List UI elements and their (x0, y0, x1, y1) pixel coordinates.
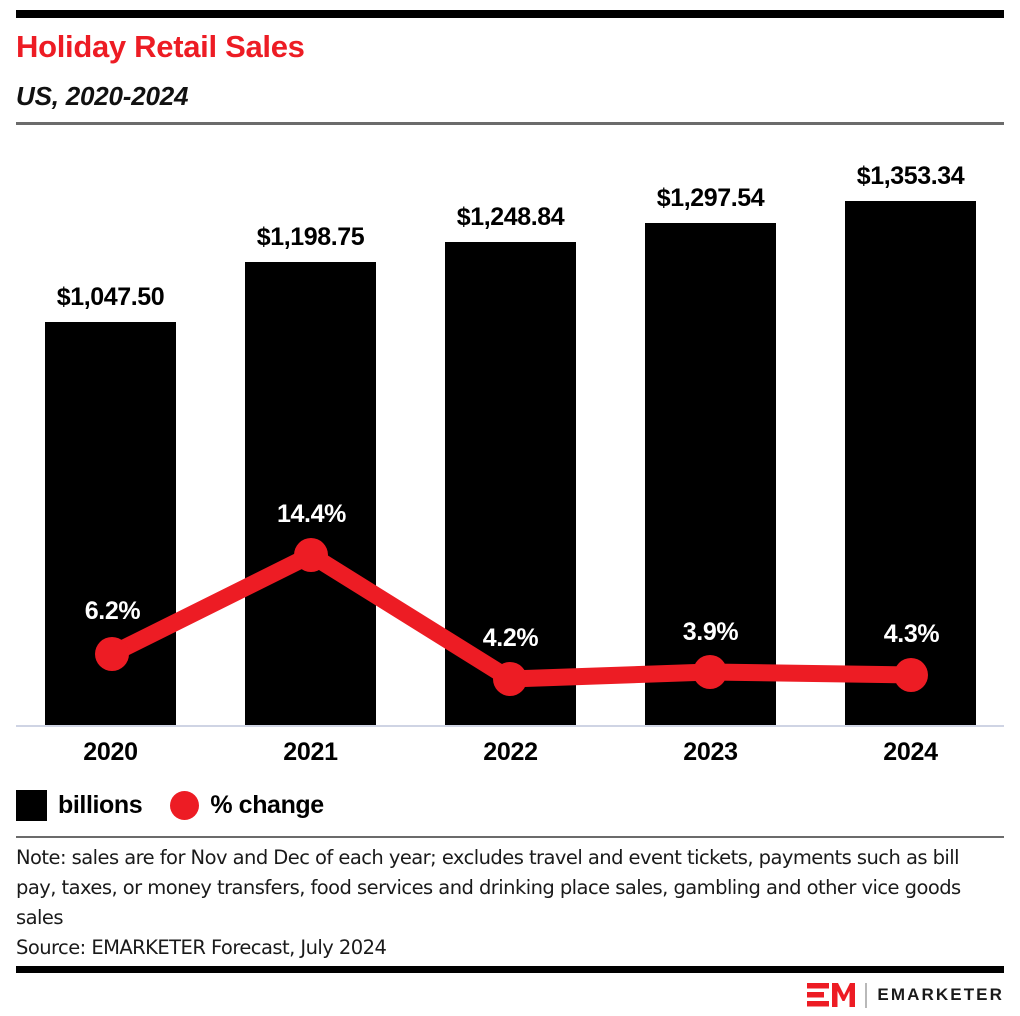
brand-wordmark: EMARKETER (877, 985, 1004, 1005)
legend-label-percent-change: % change (210, 791, 324, 820)
legend-label-billions: billions (58, 791, 142, 820)
pct-label-2022: 4.2% (435, 624, 586, 653)
pct-label-2020: 6.2% (37, 597, 188, 626)
footer-divider-bottom (16, 966, 1004, 973)
x-axis-line (16, 725, 1004, 727)
square-swatch-icon (16, 790, 47, 821)
bar-2021 (245, 262, 376, 725)
bar-2020 (45, 322, 176, 725)
x-axis-label-2021: 2021 (235, 738, 386, 767)
chart-legend: billions % change (16, 790, 324, 821)
bar-value-label-2024: $1,353.34 (835, 162, 986, 191)
legend-item-billions: billions (16, 790, 142, 821)
chart-source: Source: EMARKETER Forecast, July 2024 (16, 934, 386, 962)
x-axis-label-2020: 2020 (35, 738, 186, 767)
pct-label-2023: 3.9% (635, 618, 786, 647)
x-axis-label-2023: 2023 (635, 738, 786, 767)
x-axis-label-2024: 2024 (835, 738, 986, 767)
pct-label-2021: 14.4% (236, 500, 387, 529)
footer-divider-top (16, 836, 1004, 838)
brand-lockup: EMARKETER (807, 980, 1004, 1010)
bar-value-label-2023: $1,297.54 (635, 184, 786, 213)
pct-label-2024: 4.3% (836, 620, 987, 649)
circle-swatch-icon (170, 791, 199, 820)
x-axis-label-2022: 2022 (435, 738, 586, 767)
bar-value-label-2022: $1,248.84 (435, 203, 586, 232)
bar-2023 (645, 223, 776, 725)
legend-item-percent-change: % change (170, 791, 324, 820)
infographic-root: Holiday Retail Sales US, 2020-2024 $1,04… (0, 0, 1020, 1016)
chart-note: Note: sales are for Nov and Dec of each … (16, 843, 976, 933)
bar-value-label-2020: $1,047.50 (35, 283, 186, 312)
em-logo-icon (807, 982, 855, 1008)
brand-divider (865, 983, 867, 1008)
bar-value-label-2021: $1,198.75 (235, 223, 386, 252)
